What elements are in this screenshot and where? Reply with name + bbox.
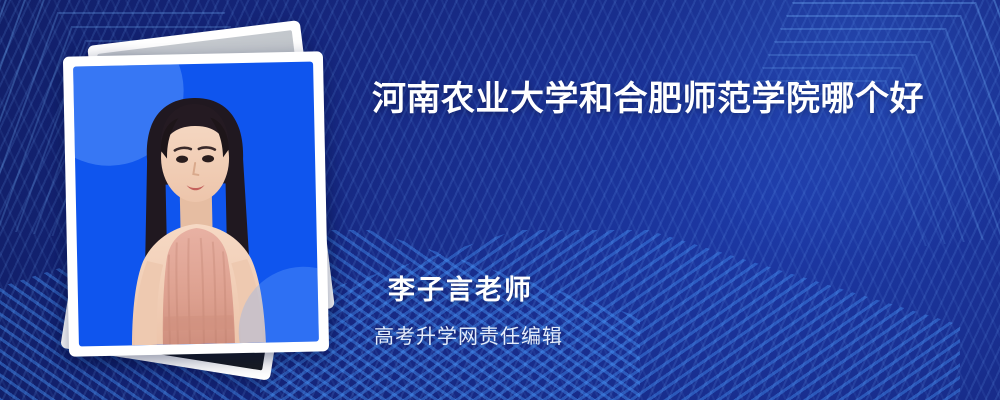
portrait-photo <box>73 62 319 347</box>
page-title: 河南农业大学和合肥师范学院哪个好 <box>372 72 960 127</box>
author-name: 李子言老师 <box>388 268 533 307</box>
text-column: 河南农业大学和合肥师范学院哪个好 李子言老师 高考升学网责任编辑 <box>372 0 972 400</box>
photo-stack <box>58 32 358 372</box>
main-photo-frame <box>63 51 329 356</box>
author-role: 高考升学网责任编辑 <box>374 320 563 349</box>
promo-card: 河南农业大学和合肥师范学院哪个好 李子言老师 高考升学网责任编辑 <box>0 0 1000 400</box>
main-photo-backdrop <box>73 62 319 347</box>
dress-waistband <box>163 315 233 330</box>
